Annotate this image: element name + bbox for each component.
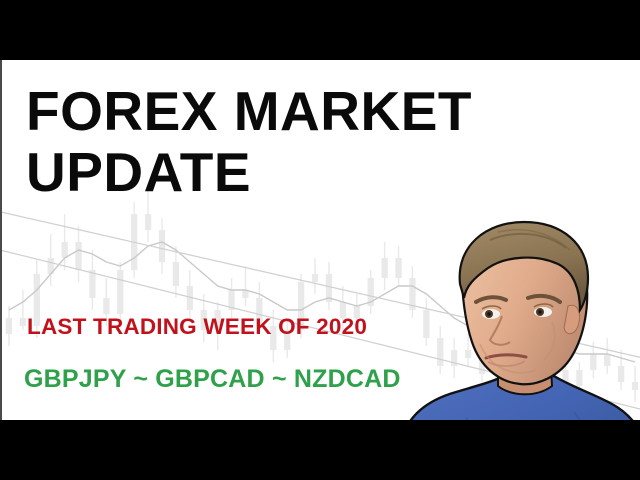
- candle-body: [75, 242, 81, 270]
- title-line-2: UPDATE: [26, 145, 566, 200]
- letterbox-bar-bottom: [0, 420, 640, 480]
- title-line-1: FOREX MARKET: [26, 84, 566, 139]
- candle-body: [381, 258, 387, 278]
- candle-body: [159, 230, 165, 262]
- candle-body: [312, 274, 318, 282]
- candle-body: [6, 318, 12, 334]
- candle-body: [117, 270, 123, 314]
- subtitle-pairs: GBPJPY ~ GBPCAD ~ NZDCAD: [24, 365, 401, 394]
- subtitle-red: LAST TRADING WEEK OF 2020: [27, 314, 367, 340]
- candle-body: [103, 298, 109, 314]
- presenter-cutout: [394, 210, 640, 420]
- letterbox-bar-top: [0, 0, 640, 60]
- candle-body: [20, 318, 26, 326]
- headline-block: FOREX MARKET UPDATE: [26, 84, 566, 206]
- candle-body: [89, 270, 95, 298]
- candle-body: [173, 262, 179, 286]
- candle-body: [145, 214, 151, 230]
- slide-canvas: FOREX MARKET UPDATE LAST TRADING WEEK OF…: [0, 60, 640, 420]
- video-thumbnail: FOREX MARKET UPDATE LAST TRADING WEEK OF…: [0, 0, 640, 480]
- candle-body: [61, 242, 67, 258]
